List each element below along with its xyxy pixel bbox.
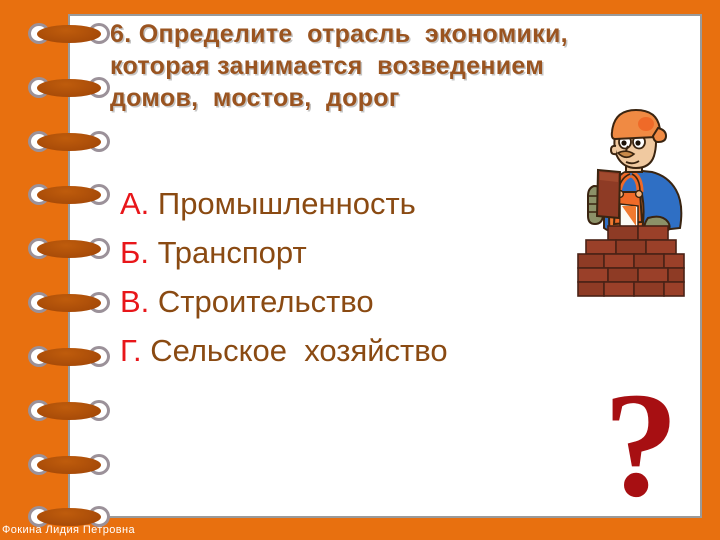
spiral-ring <box>28 183 110 207</box>
spiral-ring <box>28 76 110 100</box>
question-title-line: 6. Определите отрасль экономики, <box>110 18 655 50</box>
author-watermark: Фокина Лидия Петровна <box>2 524 135 536</box>
spiral-ring <box>28 345 110 369</box>
spiral-band <box>37 456 101 474</box>
answer-option-text: Транспорт <box>149 235 307 270</box>
spiral-ring <box>28 399 110 423</box>
answer-option-text: Сельское хозяйство <box>142 333 448 368</box>
answer-option-b[interactable]: Б. Транспорт <box>120 231 590 280</box>
answer-option-text: Промышленность <box>149 186 416 221</box>
builder-illustration <box>570 108 700 298</box>
spiral-band <box>37 79 101 97</box>
slide-canvas: 6. Определите отрасль экономики, которая… <box>0 0 720 540</box>
question-title: 6. Определите отрасль экономики, которая… <box>110 18 655 114</box>
answer-option-letter: Б. <box>120 235 149 270</box>
question-title-line: которая занимается возведением <box>110 50 655 82</box>
spiral-band <box>37 294 101 312</box>
spiral-band <box>37 133 101 151</box>
answer-option-text: Строительство <box>149 284 373 319</box>
answer-option-g[interactable]: Г. Сельское хозяйство <box>120 329 590 378</box>
answer-options-list: А. Промышленность Б. Транспорт В. Строит… <box>120 182 590 378</box>
answer-option-a[interactable]: А. Промышленность <box>120 182 590 231</box>
spiral-band <box>37 402 101 420</box>
answer-option-letter: Г. <box>120 333 142 368</box>
answer-option-v[interactable]: В. Строительство <box>120 280 590 329</box>
spiral-band <box>37 186 101 204</box>
spiral-band <box>37 348 101 366</box>
spiral-ring <box>28 130 110 154</box>
spiral-band <box>37 240 101 258</box>
answer-option-letter: В. <box>120 284 149 319</box>
spiral-band <box>37 25 101 43</box>
spiral-ring <box>28 237 110 261</box>
spiral-ring <box>28 291 110 315</box>
spiral-ring <box>28 22 110 46</box>
question-mark-graphic: ? <box>596 385 686 505</box>
answer-option-letter: А. <box>120 186 149 221</box>
spiral-ring <box>28 453 110 477</box>
